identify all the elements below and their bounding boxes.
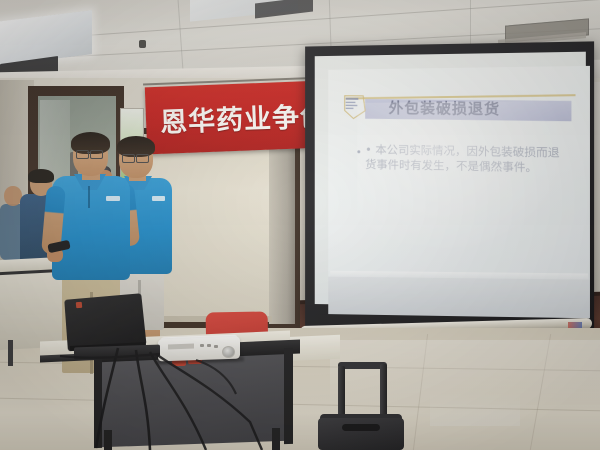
projected-slide-area: 外包装破损退货 • 本公司实际情况，因外包装破损而退货事件时有发生，不是偶然事件… (328, 66, 590, 288)
attendee-hair (28, 169, 54, 183)
presentation-photo: 恩华药业争创 外包装破损退货 (0, 0, 600, 450)
banner-text: 恩华药业争创 (159, 94, 322, 139)
projector-button[interactable] (200, 344, 204, 347)
red-banner: 恩华药业争创 (145, 81, 322, 155)
slide-body-text: • 本公司实际情况，因外包装破损而退货事件时有发生，不是偶然事件。 (365, 142, 565, 176)
table-leg (104, 430, 112, 450)
projector-lens (222, 346, 235, 358)
screen-lower-area (328, 277, 590, 319)
projector-button[interactable] (214, 345, 218, 348)
suitcase-handle-post (338, 366, 345, 418)
table-frame (284, 348, 293, 444)
table-frame (94, 350, 102, 448)
shirt-logo (106, 196, 120, 201)
glasses-lens (136, 154, 149, 163)
projection-screen: 外包装破损退货 • 本公司实际情况，因外包装破损而退货事件时有发生，不是偶然事件… (305, 41, 594, 332)
table-leg (272, 428, 280, 450)
suitcase-grip[interactable] (342, 424, 380, 431)
side-desk-leg (8, 340, 13, 366)
window-mullion (269, 132, 295, 324)
projector-button[interactable] (207, 344, 211, 347)
screen-surface: 外包装破损退货 • 本公司实际情况，因外包装破损而退货事件时有发生，不是偶然事件… (315, 52, 586, 308)
projector-vent (168, 344, 194, 350)
slide-bullet-icon (357, 150, 360, 153)
slide-title: 外包装破损退货 (389, 97, 501, 119)
presentation-slide: 外包装破损退货 • 本公司实际情况，因外包装破损而退货事件时有发生，不是偶然事件… (340, 89, 584, 264)
ceiling-sensor-icon (139, 40, 146, 48)
glasses-lens (90, 150, 103, 159)
laptop-brand-logo (76, 302, 83, 309)
suitcase-body (318, 418, 404, 450)
company-logo-mark (344, 95, 377, 121)
suitcase-handle-post (380, 364, 387, 418)
shirt-placket (88, 186, 90, 208)
shirt-logo (152, 196, 165, 201)
tripod-reflection (430, 392, 520, 426)
glasses-lens (122, 154, 135, 163)
